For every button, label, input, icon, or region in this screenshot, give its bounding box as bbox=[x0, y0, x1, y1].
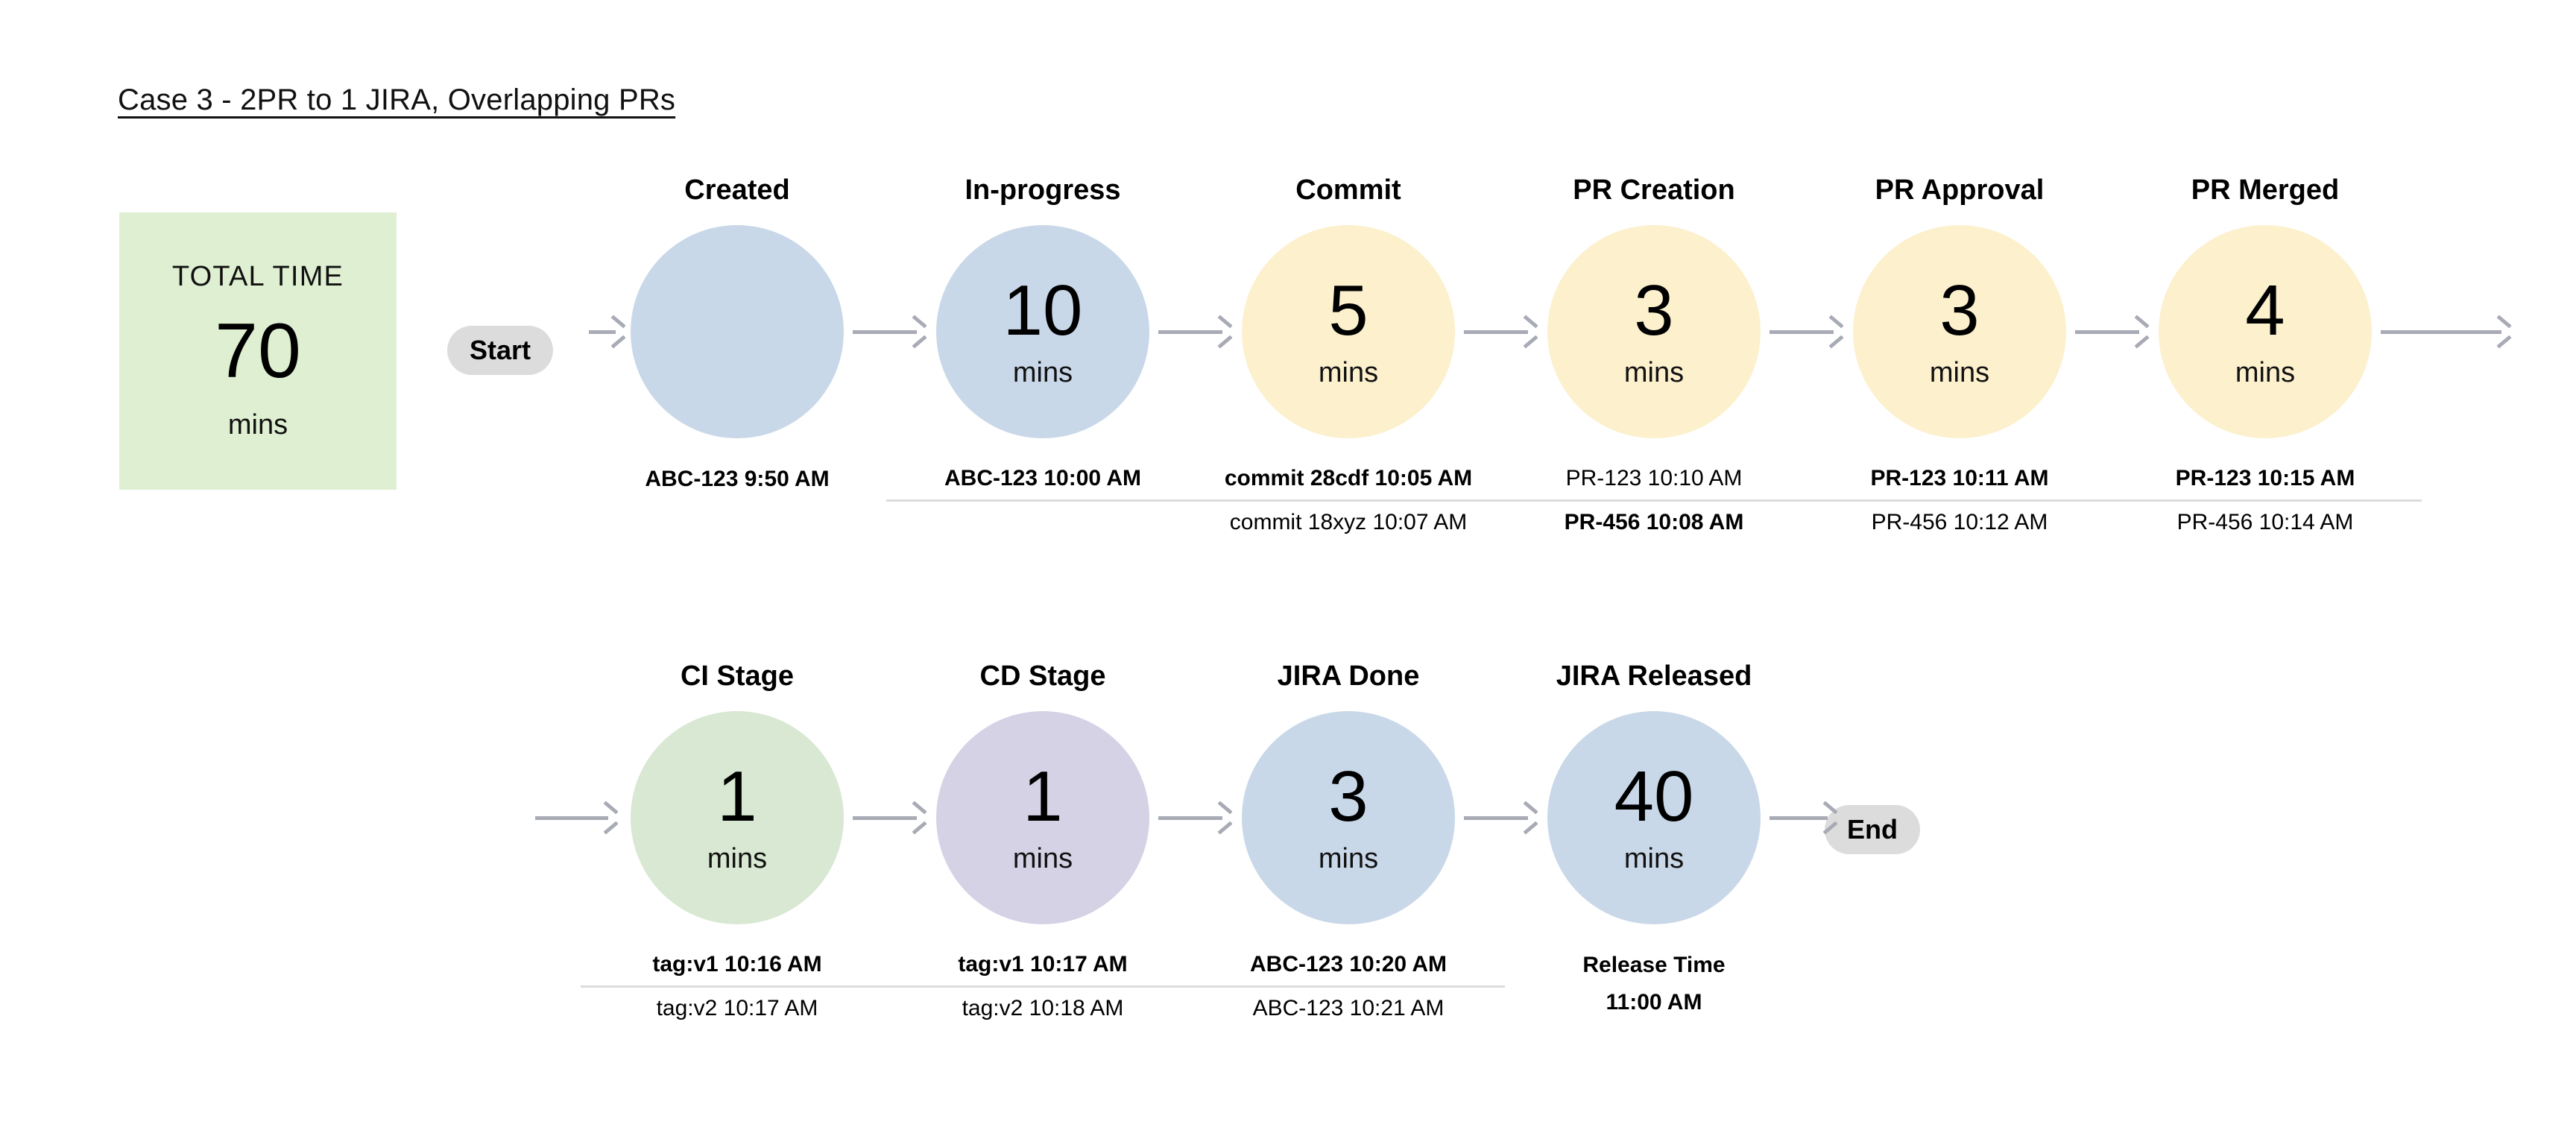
stage-label: PR Approval bbox=[1875, 173, 2045, 207]
stage-circle[interactable]: 10mins bbox=[936, 225, 1149, 438]
stage-in-progress[interactable]: In-progress10minsABC-123 10:00 AM bbox=[936, 173, 1149, 505]
stage-commit[interactable]: Commit5minscommit 28cdf 10:05 AMcommit 1… bbox=[1242, 173, 1455, 540]
stage-duration-unit: mins bbox=[1930, 357, 1989, 389]
caption-row: tag:v1 10:16 AM bbox=[652, 947, 821, 982]
caption-separator bbox=[886, 499, 1199, 502]
caption-row: PR-456 10:08 AM bbox=[1565, 505, 1744, 540]
stage-captions: Release Time11:00 AM bbox=[1497, 947, 1811, 1021]
caption-row: ABC-123 10:00 AM bbox=[944, 461, 1141, 496]
stage-circle[interactable]: 1mins bbox=[936, 711, 1149, 924]
stage-duration-value: 5 bbox=[1328, 275, 1368, 347]
stage-circle[interactable] bbox=[631, 225, 844, 438]
stage-duration-unit: mins bbox=[1624, 357, 1684, 389]
stage-duration-unit: mins bbox=[1624, 843, 1684, 875]
stage-duration-value: 1 bbox=[1023, 761, 1062, 833]
stage-circle[interactable]: 40mins bbox=[1547, 711, 1761, 924]
caption-row: commit 18xyz 10:07 AM bbox=[1230, 505, 1467, 540]
stage-circle[interactable]: 4mins bbox=[2159, 225, 2372, 438]
stage-captions: commit 28cdf 10:05 AMcommit 18xyz 10:07 … bbox=[1192, 461, 1505, 540]
stage-label: Created bbox=[684, 173, 790, 207]
stage-duration-value: 1 bbox=[717, 761, 757, 833]
stage-duration-value: 3 bbox=[1939, 275, 1979, 347]
start-node[interactable]: Start bbox=[447, 326, 553, 375]
stage-circle[interactable]: 3mins bbox=[1853, 225, 2066, 438]
flow-arrow bbox=[535, 808, 619, 827]
stage-captions: PR-123 10:15 AMPR-456 10:14 AM bbox=[2109, 461, 2422, 540]
stage-captions: ABC-123 9:50 AM bbox=[581, 461, 894, 498]
stage-ci-stage[interactable]: CI Stage1minstag:v1 10:16 AMtag:v2 10:17… bbox=[631, 659, 844, 1026]
stage-cd-stage[interactable]: CD Stage1minstag:v1 10:17 AMtag:v2 10:18… bbox=[936, 659, 1149, 1026]
stage-jira-released[interactable]: JIRA Released40minsRelease Time11:00 AM bbox=[1547, 659, 1761, 1021]
stage-label: In-progress bbox=[965, 173, 1120, 207]
caption-separator bbox=[581, 985, 894, 988]
flow-arrow bbox=[853, 808, 927, 827]
caption-separator bbox=[2109, 499, 2422, 502]
stage-label: JIRA Done bbox=[1278, 659, 1420, 693]
stage-duration-unit: mins bbox=[1319, 357, 1378, 389]
flow-arrow bbox=[2075, 322, 2150, 341]
stage-pr-creation[interactable]: PR Creation3minsPR-123 10:10 AMPR-456 10… bbox=[1547, 173, 1761, 540]
caption-row: tag:v2 10:18 AM bbox=[962, 991, 1124, 1026]
caption-row: ABC-123 10:20 AM bbox=[1250, 947, 1447, 982]
flow-arrow bbox=[853, 322, 927, 341]
stage-pr-approval[interactable]: PR Approval3minsPR-123 10:11 AMPR-456 10… bbox=[1853, 173, 2066, 540]
end-node[interactable]: End bbox=[1825, 805, 1920, 854]
flow-arrow bbox=[589, 322, 626, 341]
stage-circle[interactable]: 3mins bbox=[1547, 225, 1761, 438]
caption-row: PR-456 10:12 AM bbox=[1872, 505, 2048, 540]
total-time-label: TOTAL TIME bbox=[172, 261, 344, 293]
caption-separator bbox=[1497, 499, 1811, 502]
caption-row: tag:v2 10:17 AM bbox=[657, 991, 818, 1026]
stage-jira-done[interactable]: JIRA Done3minsABC-123 10:20 AMABC-123 10… bbox=[1242, 659, 1455, 1026]
total-time-card: TOTAL TIME 70 mins bbox=[119, 212, 397, 490]
stage-circle[interactable]: 3mins bbox=[1242, 711, 1455, 924]
stage-label: Commit bbox=[1295, 173, 1401, 207]
flow-arrow bbox=[1464, 322, 1538, 341]
stage-duration-unit: mins bbox=[2235, 357, 2295, 389]
stage-label: JIRA Released bbox=[1556, 659, 1752, 693]
stage-pr-merged[interactable]: PR Merged4minsPR-123 10:15 AMPR-456 10:1… bbox=[2159, 173, 2372, 540]
stage-captions: tag:v1 10:17 AMtag:v2 10:18 AM bbox=[886, 947, 1199, 1026]
stage-duration-unit: mins bbox=[707, 843, 767, 875]
caption-row: PR-123 10:15 AM bbox=[2176, 461, 2355, 496]
stage-label: CD Stage bbox=[980, 659, 1106, 693]
caption-row: PR-456 10:14 AM bbox=[2177, 505, 2354, 540]
stage-captions: PR-123 10:11 AMPR-456 10:12 AM bbox=[1803, 461, 2116, 540]
stage-label: PR Creation bbox=[1573, 173, 1734, 207]
caption-row: tag:v1 10:17 AM bbox=[958, 947, 1127, 982]
caption-row: ABC-123 9:50 AM bbox=[645, 461, 829, 498]
stage-label: CI Stage bbox=[681, 659, 794, 693]
stage-circle[interactable]: 1mins bbox=[631, 711, 844, 924]
caption-separator bbox=[1192, 499, 1505, 502]
stage-circle[interactable]: 5mins bbox=[1242, 225, 1455, 438]
stage-captions: PR-123 10:10 AMPR-456 10:08 AM bbox=[1497, 461, 1811, 540]
page-title: Case 3 - 2PR to 1 JIRA, Overlapping PRs bbox=[118, 83, 675, 117]
caption-row: 11:00 AM bbox=[1606, 984, 1702, 1021]
stage-label: PR Merged bbox=[2191, 173, 2339, 207]
caption-row: PR-123 10:10 AM bbox=[1566, 461, 1743, 496]
total-time-unit: mins bbox=[228, 409, 288, 441]
stage-duration-value: 40 bbox=[1614, 761, 1694, 833]
flow-arrow bbox=[1158, 808, 1233, 827]
caption-separator bbox=[1192, 985, 1505, 988]
flow-arrow bbox=[1464, 808, 1538, 827]
stage-duration-unit: mins bbox=[1013, 843, 1073, 875]
caption-row: commit 28cdf 10:05 AM bbox=[1225, 461, 1472, 496]
flow-arrow bbox=[2381, 322, 2512, 341]
flow-arrow bbox=[1158, 322, 1233, 341]
stage-captions: tag:v1 10:16 AMtag:v2 10:17 AM bbox=[581, 947, 894, 1026]
stage-duration-value: 3 bbox=[1634, 275, 1673, 347]
stage-captions: ABC-123 10:20 AMABC-123 10:21 AM bbox=[1192, 947, 1505, 1026]
stage-duration-unit: mins bbox=[1319, 843, 1378, 875]
total-time-value: 70 bbox=[215, 311, 301, 392]
caption-row: PR-123 10:11 AM bbox=[1870, 461, 2048, 496]
caption-separator bbox=[886, 985, 1199, 988]
flow-arrow bbox=[1770, 322, 1844, 341]
stage-duration-value: 4 bbox=[2245, 275, 2285, 347]
caption-row: ABC-123 10:21 AM bbox=[1253, 991, 1445, 1026]
stage-duration-value: 10 bbox=[1003, 275, 1083, 347]
caption-row: Release Time bbox=[1582, 947, 1725, 984]
stage-captions: ABC-123 10:00 AM bbox=[886, 461, 1199, 505]
caption-separator bbox=[1803, 499, 2116, 502]
stage-duration-value: 3 bbox=[1328, 761, 1368, 833]
stage-duration-unit: mins bbox=[1013, 357, 1073, 389]
stage-created[interactable]: CreatedABC-123 9:50 AM bbox=[631, 173, 844, 498]
flow-diagram-canvas: Case 3 - 2PR to 1 JIRA, Overlapping PRs … bbox=[0, 0, 2576, 1139]
